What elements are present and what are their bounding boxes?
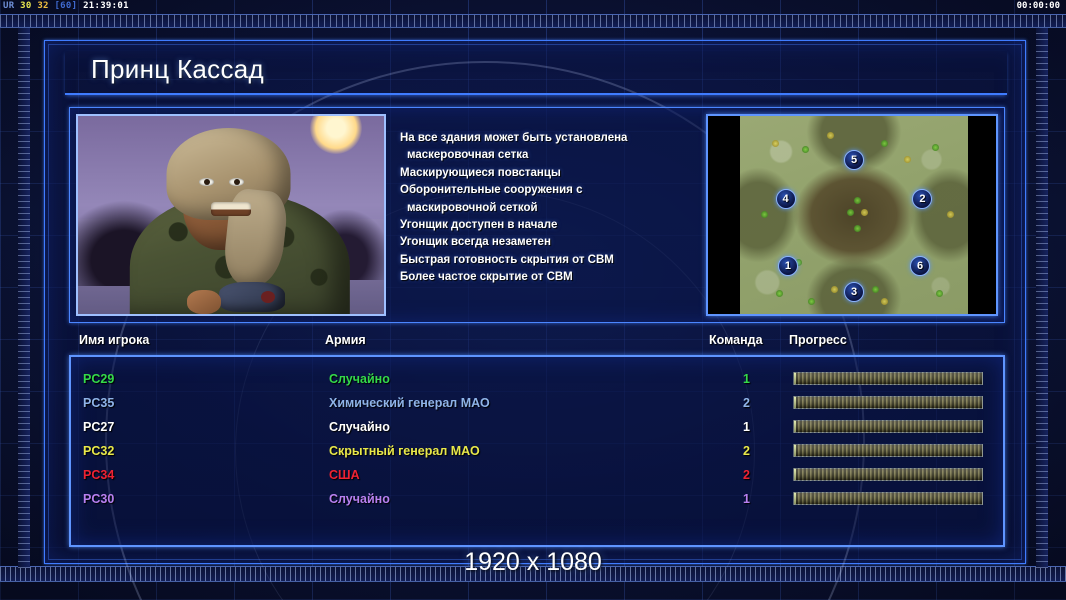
player-army[interactable]: Случайно (329, 367, 390, 391)
player-table: PC29Случайно1PC35Химический генерал МАО2… (69, 355, 1005, 547)
info-row: На все здания может быть установлена мас… (69, 107, 1005, 323)
player-team[interactable]: 2 (743, 391, 750, 415)
description-line: Маскирующиеся повстанцы (400, 165, 690, 182)
ruler-strip-left (18, 28, 30, 568)
player-army[interactable]: Случайно (329, 487, 390, 511)
description-line: Быстрая готовность скрытия от СВМ (400, 252, 690, 269)
player-progress-bar (793, 372, 983, 385)
main-panel: Принц Кассад На все здания может быть ус… (44, 40, 1026, 564)
player-name: PC35 (83, 391, 114, 415)
player-progress-bar (793, 468, 983, 481)
minimap-prop (847, 209, 854, 216)
column-header-army: Армия (325, 333, 366, 347)
ruler-strip-right (1036, 28, 1048, 568)
general-portrait (76, 114, 386, 316)
minimap-prop (831, 286, 838, 293)
player-team[interactable]: 1 (743, 487, 750, 511)
player-army[interactable]: США (329, 463, 360, 487)
table-row[interactable]: PC29Случайно1 (71, 367, 1003, 391)
minimap-prop (854, 225, 861, 232)
table-row[interactable]: PC27Случайно1 (71, 415, 1003, 439)
player-name: PC29 (83, 367, 114, 391)
description-line: Угонщик всегда незаметен (400, 234, 690, 251)
player-team[interactable]: 1 (743, 367, 750, 391)
player-army[interactable]: Химический генерал МАО (329, 391, 490, 415)
minimap-prop (947, 211, 954, 218)
description-line: На все здания может быть установлена (400, 130, 690, 147)
minimap-prop (808, 298, 815, 305)
player-team[interactable]: 2 (743, 463, 750, 487)
player-team[interactable]: 2 (743, 439, 750, 463)
minimap-spawn-6[interactable]: 6 (910, 256, 930, 276)
player-army[interactable]: Случайно (329, 415, 390, 439)
title-bar: Принц Кассад (65, 51, 1007, 95)
player-progress-bar (793, 444, 983, 457)
player-team[interactable]: 1 (743, 415, 750, 439)
soldier-eye-left (199, 178, 214, 186)
description-line: Более частое скрытие от СВМ (400, 269, 690, 286)
soldier-mouth (211, 202, 251, 216)
description-line: маскеровочная сетка (400, 147, 690, 164)
status-clock-left: 21:39:01 (83, 1, 129, 11)
status-bar-left: UR 30 32 [60] 21:39:01 (3, 1, 129, 11)
status-bracket: [60] (54, 1, 77, 11)
minimap-prop (872, 286, 879, 293)
minimap-spawn-5[interactable]: 5 (844, 150, 864, 170)
minimap-frame[interactable]: 542163 (706, 114, 998, 316)
resolution-caption: 1920 x 1080 (0, 548, 1066, 577)
column-header-name: Имя игрока (79, 333, 149, 347)
minimap-terrain: 542163 (740, 116, 968, 314)
sun-icon (310, 114, 362, 154)
minimap-prop (932, 144, 939, 151)
status-value-b: 32 (37, 1, 48, 11)
table-row[interactable]: PC34США2 (71, 463, 1003, 487)
description-line: Оборонительные сооружения с (400, 182, 690, 199)
minimap-prop (936, 290, 943, 297)
player-table-header: Имя игрока Армия Команда Прогресс (69, 333, 1005, 355)
player-progress-bar (793, 396, 983, 409)
minimap-prop (904, 156, 911, 163)
player-army[interactable]: Скрытный генерал МАО (329, 439, 480, 463)
table-row[interactable]: PC32Скрытный генерал МАО2 (71, 439, 1003, 463)
column-header-team: Команда (709, 333, 763, 347)
column-header-progress: Прогресс (789, 333, 847, 347)
table-row[interactable]: PC35Химический генерал МАО2 (71, 391, 1003, 415)
description-line: маскировочной сеткой (400, 200, 690, 217)
status-value-a: 30 (20, 1, 31, 11)
ruler-strip-top (0, 14, 1066, 28)
player-progress-bar (793, 420, 983, 433)
minimap-prop (861, 209, 868, 216)
minimap-prop (761, 211, 768, 218)
minimap-prop (854, 197, 861, 204)
table-row[interactable]: PC30Случайно1 (71, 487, 1003, 511)
page-title: Принц Кассад (91, 54, 264, 85)
soldier-hand (187, 290, 221, 314)
minimap-prop (772, 140, 779, 147)
status-clock-right: 00:00:00 (1017, 1, 1060, 11)
general-description: На все здания может быть установлена мас… (400, 130, 690, 287)
player-name: PC27 (83, 415, 114, 439)
minimap-prop (881, 140, 888, 147)
player-name: PC32 (83, 439, 114, 463)
status-prefix: UR (3, 1, 14, 11)
minimap-prop (827, 132, 834, 139)
minimap-spawn-1[interactable]: 1 (778, 256, 798, 276)
minimap-prop (776, 290, 783, 297)
player-name: PC34 (83, 463, 114, 487)
minimap-prop (881, 298, 888, 305)
description-line: Угонщик доступен в начале (400, 217, 690, 234)
weapon-icon (219, 282, 285, 312)
soldier-eye-right (229, 178, 244, 186)
player-progress-bar (793, 492, 983, 505)
minimap-spawn-3[interactable]: 3 (844, 282, 864, 302)
minimap-spawn-2[interactable]: 2 (912, 189, 932, 209)
minimap-spawn-4[interactable]: 4 (776, 189, 796, 209)
minimap-prop (802, 146, 809, 153)
player-name: PC30 (83, 487, 114, 511)
